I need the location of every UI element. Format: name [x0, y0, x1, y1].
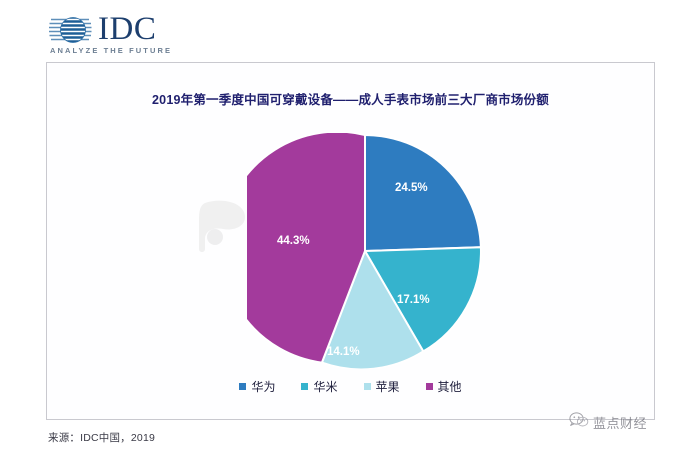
legend-item-huawei[interactable]: 华为	[239, 378, 275, 395]
pie-label-huawei: 24.5%	[395, 182, 428, 194]
pie-label-apple: 14.1%	[327, 346, 360, 358]
idc-logo: IDC ANALYZE THE FUTURE	[48, 12, 228, 58]
legend-label-huawei: 华为	[251, 378, 275, 395]
legend-swatch-apple	[364, 383, 371, 390]
pie-label-huami: 17.1%	[397, 294, 430, 306]
chart-legend: 华为 华米 苹果 其他	[47, 378, 654, 395]
chart-title: 2019年第一季度中国可穿戴设备——成人手表市场前三大厂商市场份额	[47, 89, 654, 108]
idc-tagline: ANALYZE THE FUTURE	[50, 46, 172, 55]
legend-item-huami[interactable]: 华米	[301, 378, 337, 395]
idc-globe-icon	[48, 14, 92, 46]
legend-swatch-huami	[301, 383, 308, 390]
wechat-icon	[569, 412, 589, 433]
legend-swatch-others	[426, 383, 433, 390]
pie-label-others: 44.3%	[277, 235, 310, 247]
legend-item-apple[interactable]: 苹果	[364, 378, 400, 395]
legend-label-others: 其他	[438, 378, 462, 395]
chart-card: 2019年第一季度中国可穿戴设备——成人手表市场前三大厂商市场份额 富途牛牛 2…	[46, 62, 655, 420]
pie-chart: 24.5% 17.1% 14.1% 44.3%	[247, 133, 483, 369]
idc-wordmark: IDC	[98, 10, 156, 48]
brand-watermark: 蓝点财经	[569, 412, 647, 433]
source-note: 来源：IDC中国，2019	[48, 430, 155, 445]
legend-item-others[interactable]: 其他	[426, 378, 462, 395]
legend-swatch-huawei	[239, 383, 246, 390]
legend-label-huami: 华米	[313, 378, 337, 395]
brand-text: 蓝点财经	[593, 413, 647, 432]
futu-logo-mark-icon	[195, 197, 255, 255]
legend-label-apple: 苹果	[376, 378, 400, 395]
